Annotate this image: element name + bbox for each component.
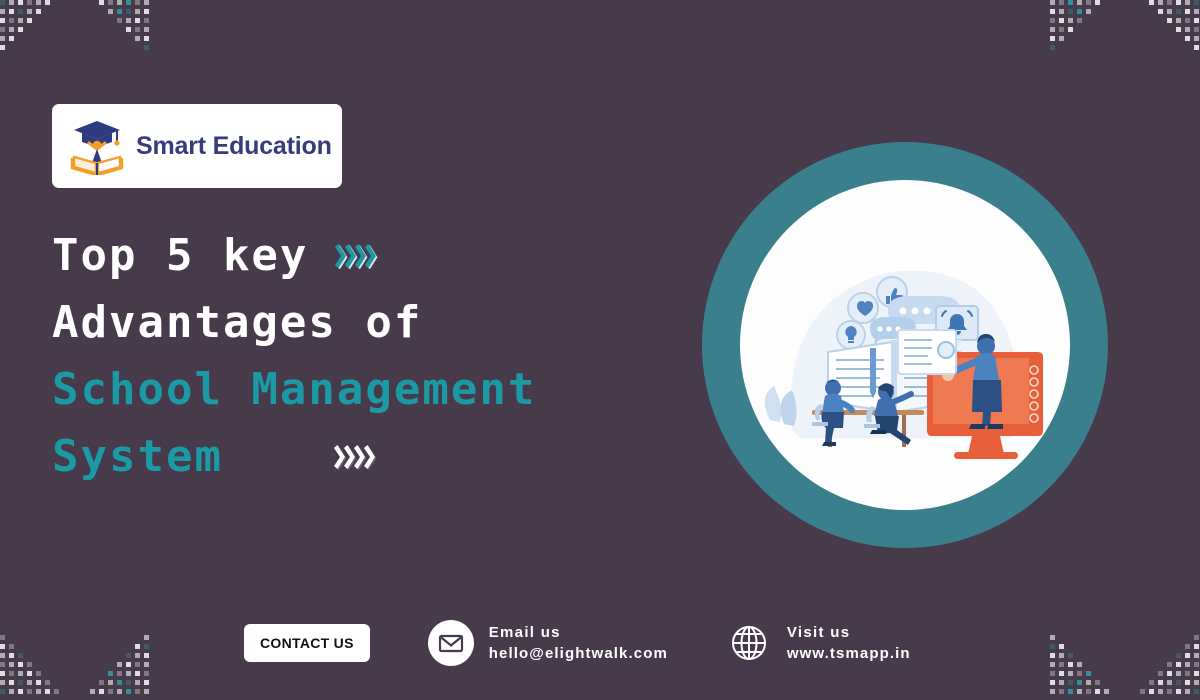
e-learning-illustration [740, 180, 1070, 510]
graduation-cap-book-icon [70, 117, 124, 175]
website-value[interactable]: www.tsmapp.in [787, 643, 911, 664]
dot-pattern-bottom-left [0, 635, 150, 700]
illustration-circle [702, 142, 1108, 548]
headline-line-3: School Management [52, 356, 752, 423]
logo-badge[interactable]: Smart Education [52, 104, 342, 188]
email-label: Email us [489, 622, 668, 643]
chevron-icon [364, 243, 375, 269]
chevron-group-teal [334, 243, 374, 269]
contact-item-website[interactable]: Visit us www.tsmapp.in [726, 620, 911, 666]
headline-line-1: Top 5 key [52, 222, 752, 289]
dot-pattern-bottom-right [1050, 635, 1200, 700]
email-value[interactable]: hello@elightwalk.com [489, 643, 668, 664]
contact-item-email[interactable]: Email us hello@elightwalk.com [428, 620, 668, 666]
headline-line-3-text: School Management [52, 356, 536, 423]
headline-line-4-text: System [52, 423, 223, 490]
contact-us-button[interactable]: CONTACT US [244, 624, 370, 662]
chevron-icon [363, 444, 374, 470]
footer-bar: CONTACT US Email us hello@elightwalk.com [244, 620, 911, 666]
dot-pattern-top-right [1050, 0, 1200, 50]
globe-icon [726, 620, 772, 666]
dot-pattern-top-left [0, 0, 150, 50]
chevron-group-white [333, 444, 373, 470]
headline-line-2: Advantages of [52, 289, 752, 356]
headline-line-2-text: Advantages of [52, 289, 422, 356]
envelope-icon [428, 620, 474, 666]
headline-line-1-text: Top 5 key [52, 222, 308, 289]
headline-block: Top 5 key Advantages of School Managemen… [52, 222, 752, 490]
website-label: Visit us [787, 622, 911, 643]
logo-text: Smart Education [136, 132, 332, 161]
promo-banner: Smart Education Top 5 key Advantages of … [0, 0, 1200, 700]
headline-line-4: System [52, 423, 752, 490]
